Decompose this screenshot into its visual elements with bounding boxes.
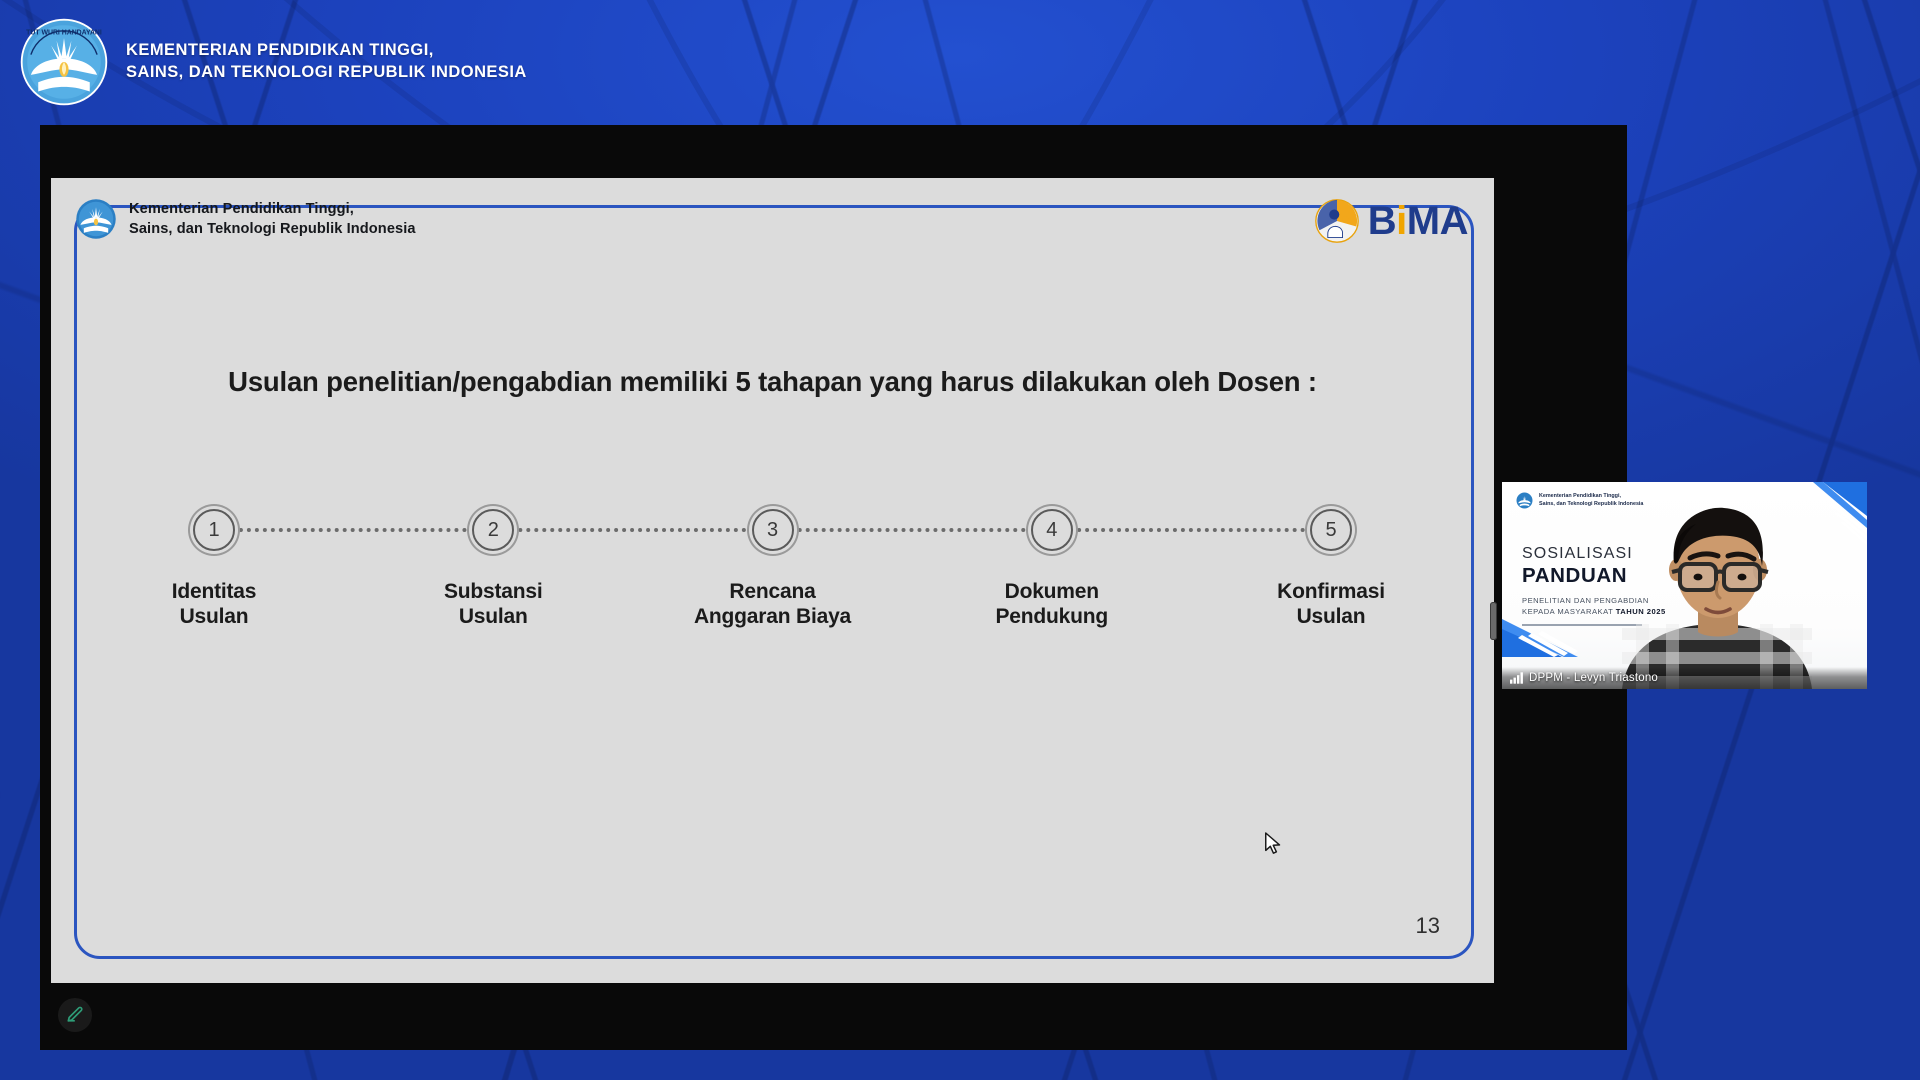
tut-wuri-handayani-seal-icon: TUT WURI HANDAYANI [18,16,110,108]
tut-wuri-handayani-seal-icon [75,198,117,240]
pencil-annotate-icon [65,1005,85,1025]
ministry-brand: TUT WURI HANDAYANI KEMENTERIAN PENDIDIKA… [18,16,527,108]
video-tile-resize-grip[interactable] [1490,602,1497,640]
participant-name-label: DPPM - Levyn Triastono [1529,672,1658,684]
mouse-pointer-icon [1263,831,1285,857]
timeline-step-number: 1 [193,509,235,551]
timeline-step-label: Substansi Usulan [444,579,543,629]
process-timeline: 1 Identitas Usulan 2 Substansi Usulan 3 … [111,476,1434,646]
timeline-step-label: Dokumen Pendukung [995,579,1108,629]
timeline-step-label: Identitas Usulan [172,579,257,629]
video-subtitle-plain: KEPADA MASYARAKAT [1522,607,1616,616]
presenter-webcam-image [1610,496,1825,689]
timeline-step-number: 3 [752,509,794,551]
bima-logo: BiMA [1314,198,1468,244]
participant-video-tile[interactable]: Kementerian Pendidikan Tinggi, Sains, da… [1502,482,1867,689]
slide-title: Usulan penelitian/pengabdian memiliki 5 … [191,363,1354,400]
presentation-slide: Kementerian Pendidikan Tinggi, Sains, da… [51,178,1494,983]
bima-logo-i: i [1396,199,1407,243]
ministry-brand-line1: KEMENTERIAN PENDIDIKAN TINGGI, [126,40,527,62]
timeline-step-label: Konfirmasi Usulan [1277,579,1385,629]
signal-bars-icon [1510,672,1523,684]
timeline-step-2: 2 Substansi Usulan [390,476,596,629]
slide-header: Kementerian Pendidikan Tinggi, Sains, da… [75,198,416,240]
timeline-step-1: 1 Identitas Usulan [111,476,317,629]
bima-logo-b: B [1368,199,1396,243]
bima-logo-ma: MA [1407,199,1468,243]
timeline-steps: 1 Identitas Usulan 2 Substansi Usulan 3 … [111,476,1434,646]
annotate-button[interactable] [58,998,92,1032]
timeline-step-number: 5 [1310,509,1352,551]
timeline-step-5: 5 Konfirmasi Usulan [1228,476,1434,629]
bima-logo-text: BiMA [1368,201,1468,241]
timeline-step-label: Rencana Anggaran Biaya [694,579,851,629]
participant-name-bar: DPPM - Levyn Triastono [1502,667,1867,689]
video-background-slide: Kementerian Pendidikan Tinggi, Sains, da… [1502,482,1867,689]
timeline-step-number: 4 [1031,509,1073,551]
slide-page-number: 13 [1416,913,1440,939]
bima-mark-icon [1314,198,1360,244]
timeline-step-4: 4 Dokumen Pendukung [949,476,1155,629]
ministry-brand-text: KEMENTERIAN PENDIDIKAN TINGGI, SAINS, DA… [126,40,527,84]
screen-share-stage: Kementerian Pendidikan Tinggi, Sains, da… [40,125,1627,1050]
slide-header-line2: Sains, dan Teknologi Republik Indonesia [129,219,416,239]
svg-text:TUT WURI HANDAYANI: TUT WURI HANDAYANI [26,29,102,36]
tut-wuri-handayani-seal-icon [1516,492,1533,509]
slide-header-line1: Kementerian Pendidikan Tinggi, [129,199,416,219]
timeline-step-3: 3 Rencana Anggaran Biaya [670,476,876,629]
slide-header-text: Kementerian Pendidikan Tinggi, Sains, da… [129,199,416,239]
timeline-step-number: 2 [472,509,514,551]
ministry-brand-line2: SAINS, DAN TEKNOLOGI REPUBLIK INDONESIA [126,62,527,84]
